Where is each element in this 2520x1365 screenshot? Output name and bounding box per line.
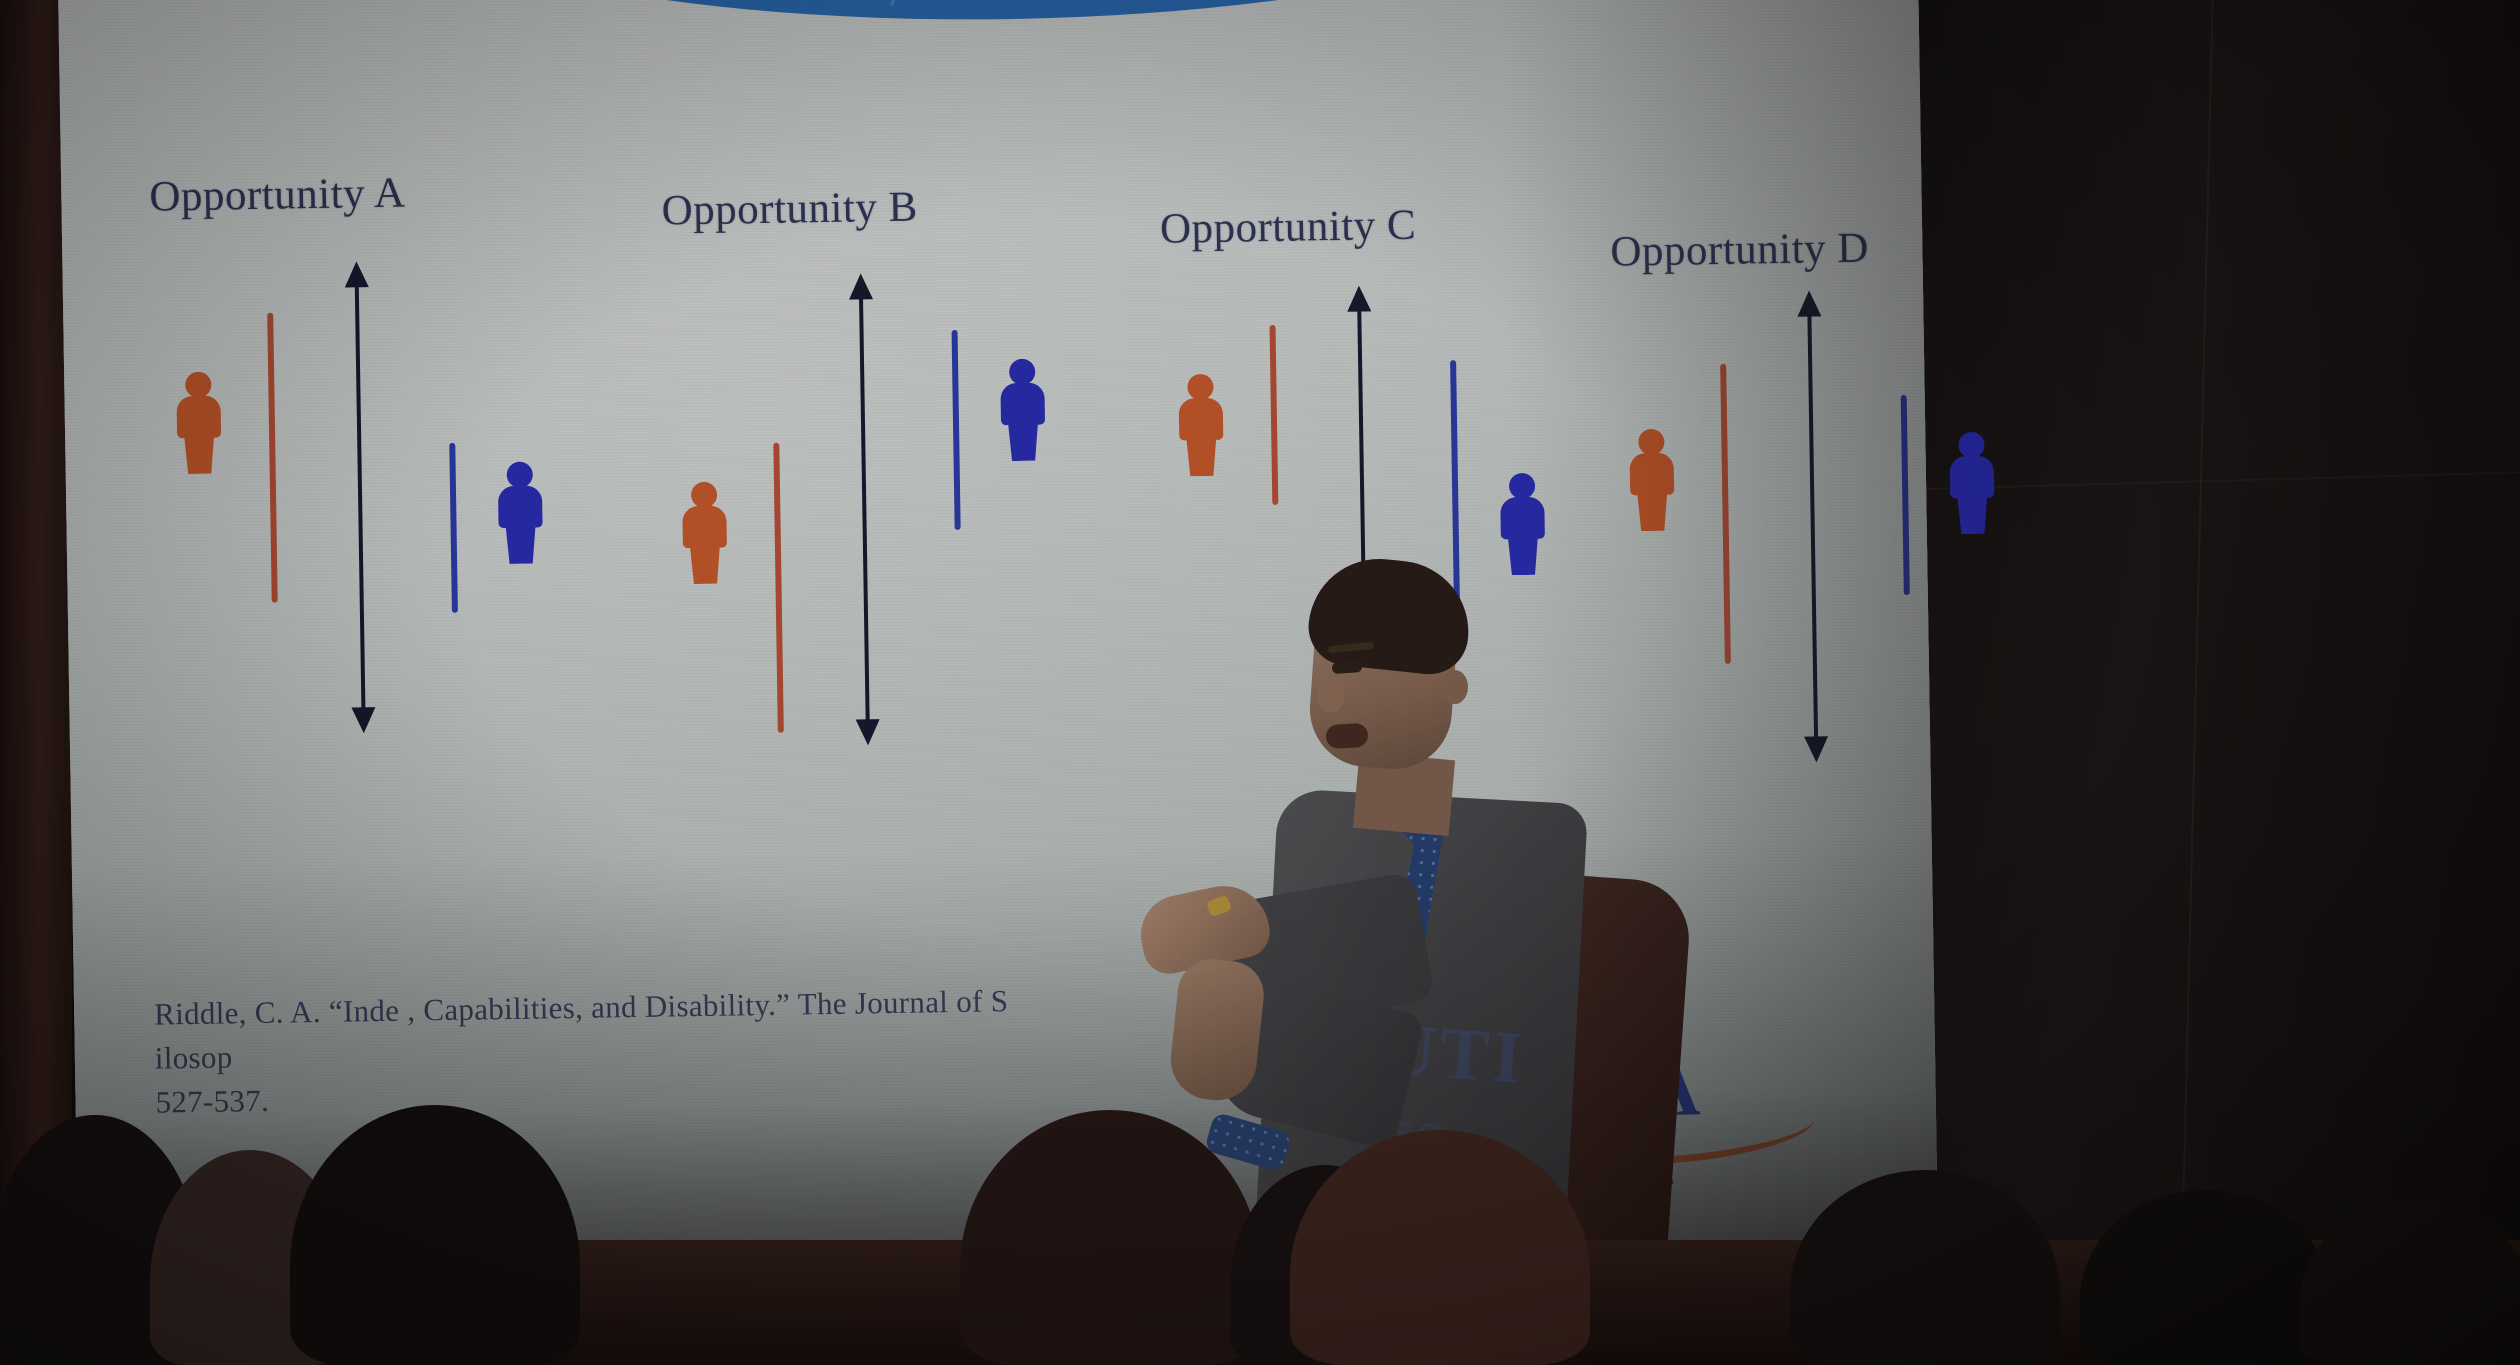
opportunity-group-b [662, 208, 1091, 775]
person-body-icon [1000, 383, 1045, 426]
person-body-icon [682, 506, 727, 549]
audience-head-7 [1790, 1170, 2060, 1365]
audience-head-shape [1290, 1130, 1590, 1365]
range-bar-blue [449, 443, 458, 613]
range-bar-orange [773, 443, 784, 733]
person-legs-icon [1005, 421, 1042, 462]
arrow-head-up-icon [849, 273, 873, 299]
person-legs-icon [687, 544, 724, 585]
arrow-head-up-icon [344, 261, 368, 287]
arrow-head-down-icon [856, 719, 880, 745]
opportunity-label-a: Opportunity A [149, 169, 406, 222]
audience-head-shape [2300, 1200, 2520, 1365]
range-bar-blue [952, 330, 961, 530]
person-legs-icon [503, 524, 540, 565]
speaker-nose [1318, 678, 1344, 712]
person-body-icon [498, 485, 543, 528]
speaker-eye [1332, 661, 1363, 674]
speaker-ear [1442, 670, 1468, 704]
person-legs-icon [1954, 494, 1991, 535]
person-head-icon [691, 482, 717, 508]
audience-head-shape [2080, 1190, 2330, 1365]
person-body-icon [176, 395, 221, 438]
banner-light-streak [890, 0, 1044, 6]
person-head-icon [1187, 374, 1213, 400]
audience-head-shape [1790, 1170, 2060, 1365]
audience-head-8 [2080, 1190, 2330, 1365]
range-bar-orange [267, 313, 278, 603]
audience-head-shape [960, 1110, 1260, 1365]
person-icon-blue [1943, 432, 2001, 537]
speaker-mouth-open [1325, 723, 1368, 749]
double-headed-arrow-icon [355, 277, 366, 717]
person-head-icon [185, 372, 211, 398]
person-icon-blue [492, 461, 550, 566]
audience-head-6 [1290, 1130, 1590, 1365]
person-head-icon [1958, 432, 1984, 458]
speaker-hair [1305, 552, 1476, 678]
person-icon-orange [676, 481, 734, 586]
presentation-photo: Opportunities Opportunity AOpportunity B… [0, 0, 2520, 1365]
person-legs-icon [181, 434, 218, 475]
person-legs-icon [1183, 436, 1220, 477]
person-head-icon [507, 462, 533, 488]
audience-head-9 [2300, 1200, 2520, 1365]
person-icon-orange [170, 371, 228, 476]
person-icon-orange [1172, 374, 1230, 479]
double-headed-arrow-icon [859, 289, 870, 729]
arrow-head-down-icon [351, 707, 375, 733]
wall-seam-vertical [2178, 0, 2213, 1365]
range-bar-orange [1270, 325, 1279, 505]
person-icon-blue [994, 358, 1052, 463]
audience-head-4 [960, 1110, 1260, 1365]
audience-head-3 [290, 1105, 580, 1365]
arrow-head-up-icon [1347, 285, 1371, 311]
audience-head-shape [290, 1105, 580, 1365]
person-head-icon [1009, 359, 1035, 385]
person-body-icon [1179, 398, 1224, 441]
opportunity-group-a [158, 216, 587, 783]
person-body-icon [1950, 456, 1995, 499]
